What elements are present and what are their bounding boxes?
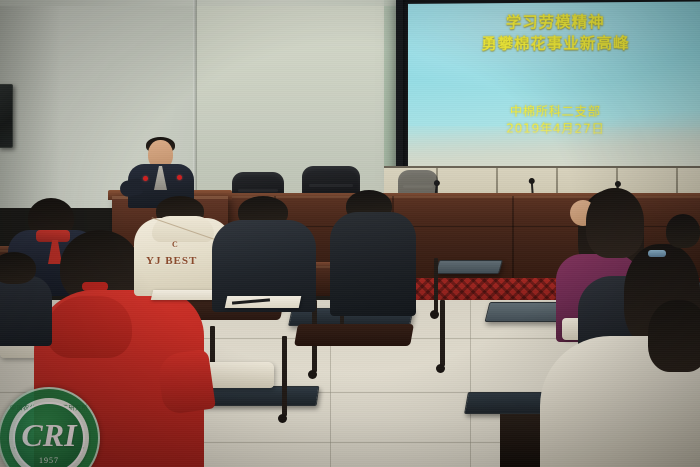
desk-leg xyxy=(282,336,287,416)
projection-screen: 学习劳模精神 勇攀棉花事业新高峰 中棉所科二支部 2019年4月27日 xyxy=(396,0,700,184)
hoodie-main-text: YJ BEST xyxy=(146,255,197,267)
audience-hair xyxy=(0,252,36,284)
desk-caster xyxy=(430,310,439,319)
lapel-badge-icon xyxy=(143,176,148,181)
desk-leg xyxy=(440,300,445,366)
logo-emblem: CRI 1957 xyxy=(13,402,85,467)
projection-screen-surface: 学习劳模精神 勇攀棉花事业新高峰 中棉所科二支部 2019年4月27日 xyxy=(408,1,700,171)
desk-leg xyxy=(434,258,438,312)
dark-jacket xyxy=(0,276,52,346)
hoodie-hood xyxy=(46,296,132,358)
center-wall xyxy=(196,0,384,196)
screen-lower-band xyxy=(408,126,700,171)
audience-hair xyxy=(648,300,700,372)
desk-caster xyxy=(436,364,445,373)
wall-speaker-icon xyxy=(0,84,13,148)
audience-hair xyxy=(666,214,700,248)
lapel-badge-icon xyxy=(177,175,182,180)
hair-clip-icon xyxy=(648,250,666,257)
logo-monogram: CRI xyxy=(15,419,83,451)
dark-hoodie xyxy=(330,212,416,316)
desk-seam xyxy=(512,196,514,282)
slide-organization: 中棉所科二支部 xyxy=(408,103,700,121)
slide-title-line-2: 勇攀棉花事业新高峰 xyxy=(408,33,700,56)
hoodie-sleeve xyxy=(156,349,216,416)
chair-back xyxy=(294,324,414,346)
logo-year: 1957 xyxy=(15,456,83,465)
desk-tabletop xyxy=(435,260,503,274)
tile-grout xyxy=(470,300,471,467)
notebook xyxy=(151,290,215,300)
audience-hair-front xyxy=(586,188,644,258)
desk-caster xyxy=(278,414,287,423)
slide-title-block: 学习劳模精神 勇攀棉花事业新高峰 xyxy=(408,11,700,56)
conference-room-screenshot: 学习劳模精神 勇攀棉花事业新高峰 中棉所科二支部 2019年4月27日 xyxy=(0,0,700,467)
desk-caster xyxy=(308,370,317,379)
hoodie-top-text: C xyxy=(172,240,179,249)
slide-title-line-1: 学习劳模精神 xyxy=(408,11,700,35)
